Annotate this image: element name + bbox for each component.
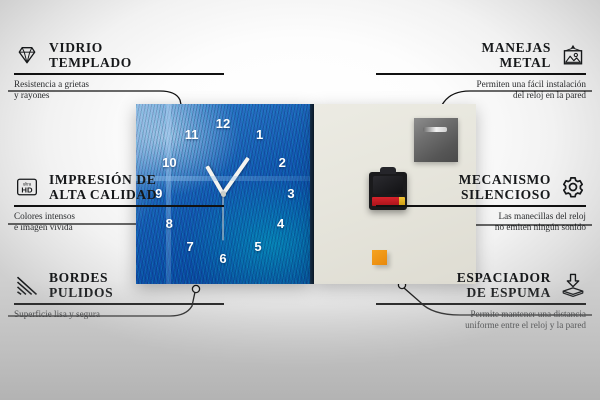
clock-numeral-5: 5 [254, 240, 261, 253]
clock-numeral-11: 11 [185, 128, 199, 141]
hanger-slot [423, 127, 447, 132]
callout-mecanismo-silencioso: MECANISMO SILENCIOSO Las manecillas del … [376, 172, 586, 234]
svg-text:HD: HD [21, 186, 33, 195]
callout-title: IMPRESIÓN DE ALTA CALIDAD [49, 172, 157, 202]
callout-title: VIDRIO TEMPLADO [49, 40, 132, 70]
callout-rule [376, 205, 586, 207]
callout-rule [376, 73, 586, 75]
callout-rule [376, 303, 586, 305]
callout-header: ESPACIADOR DE ESPUMA [376, 270, 586, 300]
callout-header: MECANISMO SILENCIOSO [376, 172, 586, 202]
clock-numeral-3: 3 [287, 187, 294, 200]
diagonal-lines-icon [14, 272, 40, 298]
callout-vidrio-templado: VIDRIO TEMPLADO Resistencia a grietas y … [14, 40, 224, 102]
hanging-picture-icon [560, 42, 586, 68]
clock-numeral-2: 2 [279, 156, 286, 169]
clock-numeral-4: 4 [277, 217, 284, 230]
clock-numeral-12: 12 [216, 117, 230, 130]
clock-numeral-7: 7 [186, 240, 193, 253]
callout-title: MECANISMO SILENCIOSO [459, 172, 551, 202]
arrow-foam-icon [560, 272, 586, 298]
ultra-hd-icon: ultra HD [14, 174, 40, 200]
callout-header: ultra HD IMPRESIÓN DE ALTA CALIDAD [14, 172, 224, 202]
clock-numeral-1: 1 [256, 128, 263, 141]
callout-rule [14, 73, 224, 75]
diamond-icon [14, 42, 40, 68]
minute-hand [221, 157, 250, 195]
callout-rule [14, 205, 224, 207]
callout-header: VIDRIO TEMPLADO [14, 40, 224, 70]
callout-impresion-alta-calidad: ultra HD IMPRESIÓN DE ALTA CALIDAD Color… [14, 172, 224, 234]
clock-numeral-6: 6 [219, 252, 226, 265]
callout-title: MANEJAS METAL [482, 40, 551, 70]
foam-spacer [372, 250, 387, 265]
infographic-canvas: 12 1 2 3 4 5 6 7 8 9 10 11 [0, 0, 600, 400]
callout-title: BORDES PULIDOS [49, 270, 113, 300]
callout-header: BORDES PULIDOS [14, 270, 224, 300]
metal-hanger [414, 118, 458, 162]
callout-header: MANEJAS METAL [376, 40, 586, 70]
callout-rule [14, 303, 224, 305]
clock-numeral-10: 10 [162, 156, 176, 169]
callout-title: ESPACIADOR DE ESPUMA [457, 270, 551, 300]
callout-manejas-metal: MANEJAS METAL Permiten una fácil instala… [376, 40, 586, 102]
gear-icon [560, 174, 586, 200]
callout-espaciador-espuma: ESPACIADOR DE ESPUMA Permite mantener un… [376, 270, 586, 332]
callout-bordes-pulidos: BORDES PULIDOS Superficie lisa y segura [14, 270, 224, 320]
